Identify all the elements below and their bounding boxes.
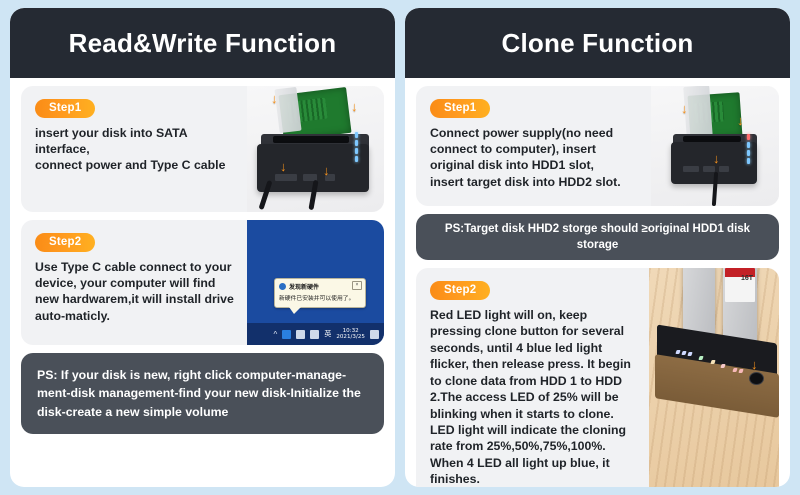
step-badge: Step1 [35, 99, 95, 118]
dock-illustration: ↓ ↓ ↓ ↓ [247, 86, 384, 212]
down-arrow-icon: ↓ [681, 102, 688, 115]
step-card-rw-1: Step1 insert your disk into SATA interfa… [21, 86, 384, 212]
led-indicator [355, 156, 358, 162]
step-text-rw-1: Step1 insert your disk into SATA interfa… [21, 86, 247, 212]
panel-header-clone: Clone Function [405, 8, 790, 78]
chevron-up-icon[interactable]: ^ [274, 330, 278, 339]
panel-read-write: Read&Write Function Step1 insert your di… [10, 8, 395, 487]
desk-illustration: 16T ↓ [649, 268, 779, 487]
panel-header-read-write: Read&Write Function [10, 8, 395, 78]
windows-desktop-illustration: 发现新硬件 新硬件已安装并可以使用了。 × 0°C 温度 ^ [247, 220, 384, 345]
photo-windows-notification: 发现新硬件 新硬件已安装并可以使用了。 × 0°C 温度 ^ [247, 220, 384, 345]
note-clone: PS:Target disk HHD2 storge should ≥origi… [416, 214, 779, 260]
step-badge: Step2 [35, 233, 95, 252]
down-arrow-icon: ↓ [271, 92, 278, 105]
photo-dock-on-desk: 16T ↓ [649, 268, 779, 487]
close-icon[interactable]: × [352, 281, 362, 290]
down-arrow-icon: ↓ [751, 358, 758, 371]
hdd-capacity: 16T [741, 275, 753, 282]
volume-icon[interactable] [310, 330, 319, 339]
balloon-title-row: 发现新硬件 [279, 282, 361, 291]
photo-dock-power-only: ↓ ↓ ↓ [651, 86, 779, 206]
network-icon[interactable] [282, 330, 291, 339]
balloon-title-text: 发现新硬件 [289, 282, 319, 291]
power-port [703, 166, 715, 172]
down-arrow-icon: ↓ [737, 114, 744, 127]
step-description: Red LED light will on, keep pressing clo… [430, 307, 639, 487]
step-text-clone-1: Step1 Connect power supply(no need conne… [416, 86, 651, 206]
led-indicator [747, 158, 750, 164]
step-text-rw-2: Step2 Use Type C cable connect to your d… [21, 220, 247, 345]
panel-body-clone: Step1 Connect power supply(no need conne… [405, 78, 790, 487]
hdd-label: 16T [725, 268, 755, 302]
photo-hdd-docking-station: ↓ ↓ ↓ ↓ [247, 86, 384, 212]
dock-illustration: ↓ ↓ ↓ [651, 86, 779, 206]
monitor-icon[interactable] [296, 330, 305, 339]
usb-port [275, 174, 297, 181]
infographic-root: Read&Write Function Step1 insert your di… [0, 0, 800, 495]
step-description: Connect power supply(no need connect to … [430, 125, 641, 191]
info-icon [279, 283, 286, 290]
ime-icon[interactable]: 英 [324, 329, 331, 339]
windows-taskbar[interactable]: ^ 英 10:32 2021/3/25 [247, 323, 384, 345]
clock-date: 2021/3/25 [336, 334, 365, 340]
down-arrow-icon: ↓ [713, 152, 720, 165]
panel-clone: Clone Function Step1 Connect power suppl… [405, 8, 790, 487]
step-card-rw-2: Step2 Use Type C cable connect to your d… [21, 220, 384, 345]
led-indicator [747, 150, 750, 156]
step-badge: Step2 [430, 281, 490, 300]
down-arrow-icon: ↓ [323, 164, 330, 177]
led-indicator [355, 148, 358, 154]
type-c-port [719, 166, 729, 172]
cable [712, 172, 718, 206]
step-text-clone-2: Step2 Red LED light will on, keep pressi… [416, 268, 649, 487]
down-arrow-icon: ↓ [280, 160, 287, 173]
led-indicator [355, 132, 358, 138]
note-read-write: PS: If your disk is new, right click com… [21, 353, 384, 434]
led-indicator [747, 142, 750, 148]
step-description: Use Type C cable connect to your device,… [35, 259, 237, 325]
new-hardware-balloon: 发现新硬件 新硬件已安装并可以使用了。 × [274, 278, 366, 308]
panel-body-read-write: Step1 insert your disk into SATA interfa… [10, 78, 395, 487]
led-indicator [355, 140, 358, 146]
step-badge: Step1 [430, 99, 490, 118]
down-arrow-icon: ↓ [351, 100, 358, 113]
step-card-clone-1: Step1 Connect power supply(no need conne… [416, 86, 779, 206]
step-card-clone-2: Step2 Red LED light will on, keep pressi… [416, 268, 779, 487]
taskbar-clock[interactable]: 10:32 2021/3/25 [336, 328, 365, 341]
dock-sata-slot [273, 136, 349, 143]
usb-port [683, 166, 699, 172]
balloon-message: 新硬件已安装并可以使用了。 [279, 293, 361, 302]
action-center-icon[interactable] [370, 330, 379, 339]
led-indicator [747, 134, 750, 140]
step-description: insert your disk into SATA interface, co… [35, 125, 237, 174]
panel-title: Read&Write Function [69, 28, 337, 59]
panel-title: Clone Function [502, 28, 694, 59]
